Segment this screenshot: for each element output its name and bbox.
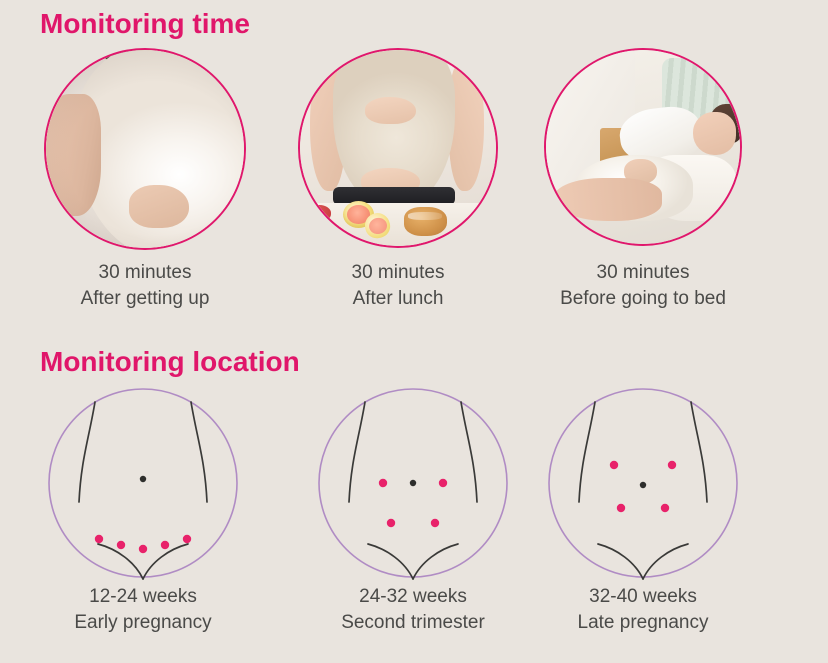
- photo-circle-after-getting-up: [44, 48, 246, 250]
- caption-early-pregnancy: 12-24 weeks Early pregnancy: [28, 584, 258, 636]
- caption-occasion: Before going to bed: [528, 286, 758, 312]
- photo-image-woman-with-food: [300, 50, 496, 246]
- caption-second-trimester: 24-32 weeks Second trimester: [298, 584, 528, 636]
- torso-right-contour: [691, 402, 707, 502]
- monitoring-dot: [661, 504, 669, 512]
- caption-weeks: 24-32 weeks: [298, 584, 528, 610]
- navel-marker: [410, 480, 416, 486]
- monitoring-location-card-0: 12-24 weeks Early pregnancy: [28, 386, 258, 646]
- caption-duration: 30 minutes: [283, 260, 513, 286]
- monitoring-dot: [183, 535, 191, 543]
- caption-after-lunch: 30 minutes After lunch: [283, 260, 513, 312]
- torso-right-contour: [461, 402, 477, 502]
- monitoring-location-card-2: 32-40 weeks Late pregnancy: [528, 386, 758, 646]
- monitoring-dot: [610, 461, 618, 469]
- navel-marker: [640, 482, 646, 488]
- photo-circle-before-going-to-bed: [544, 48, 742, 246]
- navel-marker: [140, 476, 146, 482]
- belly-diagram-early-pregnancy: [43, 386, 243, 581]
- infographic-page: Monitoring time 30 minutes After getting…: [0, 0, 828, 663]
- monitoring-dot: [617, 504, 625, 512]
- caption-stage: Early pregnancy: [28, 610, 258, 636]
- photo-circle-after-lunch: [298, 48, 498, 248]
- caption-stage: Late pregnancy: [528, 610, 758, 636]
- torso-left-contour: [349, 402, 365, 502]
- monitoring-dot: [379, 479, 387, 487]
- monitoring-time-row: 30 minutes After getting up: [0, 48, 828, 278]
- monitoring-time-card-0: 30 minutes After getting up: [30, 48, 260, 278]
- caption-late-pregnancy: 32-40 weeks Late pregnancy: [528, 584, 758, 636]
- monitoring-dot: [95, 535, 103, 543]
- caption-before-going-to-bed: 30 minutes Before going to bed: [528, 260, 758, 312]
- caption-weeks: 32-40 weeks: [528, 584, 758, 610]
- caption-occasion: After lunch: [283, 286, 513, 312]
- monitoring-dot: [161, 541, 169, 549]
- monitoring-dot: [387, 519, 395, 527]
- monitoring-dot: [431, 519, 439, 527]
- monitoring-time-card-1: 30 minutes After lunch: [283, 48, 513, 278]
- belly-diagram-late-pregnancy: [543, 386, 743, 581]
- monitoring-dot: [139, 545, 147, 553]
- caption-duration: 30 minutes: [528, 260, 758, 286]
- monitoring-location-row: 12-24 weeks Early pregnancy 24-32 weeks …: [0, 386, 828, 646]
- section-heading-monitoring-time: Monitoring time: [40, 8, 250, 40]
- belly-diagram-second-trimester: [313, 386, 513, 581]
- photo-image-standing-woman: [46, 50, 244, 248]
- torso-right-contour: [191, 402, 207, 502]
- monitoring-location-card-1: 24-32 weeks Second trimester: [298, 386, 528, 646]
- caption-duration: 30 minutes: [30, 260, 260, 286]
- caption-after-getting-up: 30 minutes After getting up: [30, 260, 260, 312]
- monitoring-time-card-2: 30 minutes Before going to bed: [528, 48, 758, 278]
- section-heading-monitoring-location: Monitoring location: [40, 346, 300, 378]
- monitoring-dot: [117, 541, 125, 549]
- caption-stage: Second trimester: [298, 610, 528, 636]
- torso-left-contour: [579, 402, 595, 502]
- caption-occasion: After getting up: [30, 286, 260, 312]
- monitoring-dot: [439, 479, 447, 487]
- caption-weeks: 12-24 weeks: [28, 584, 258, 610]
- torso-left-contour: [79, 402, 95, 502]
- monitoring-dot: [668, 461, 676, 469]
- photo-image-woman-in-bed: [546, 50, 740, 244]
